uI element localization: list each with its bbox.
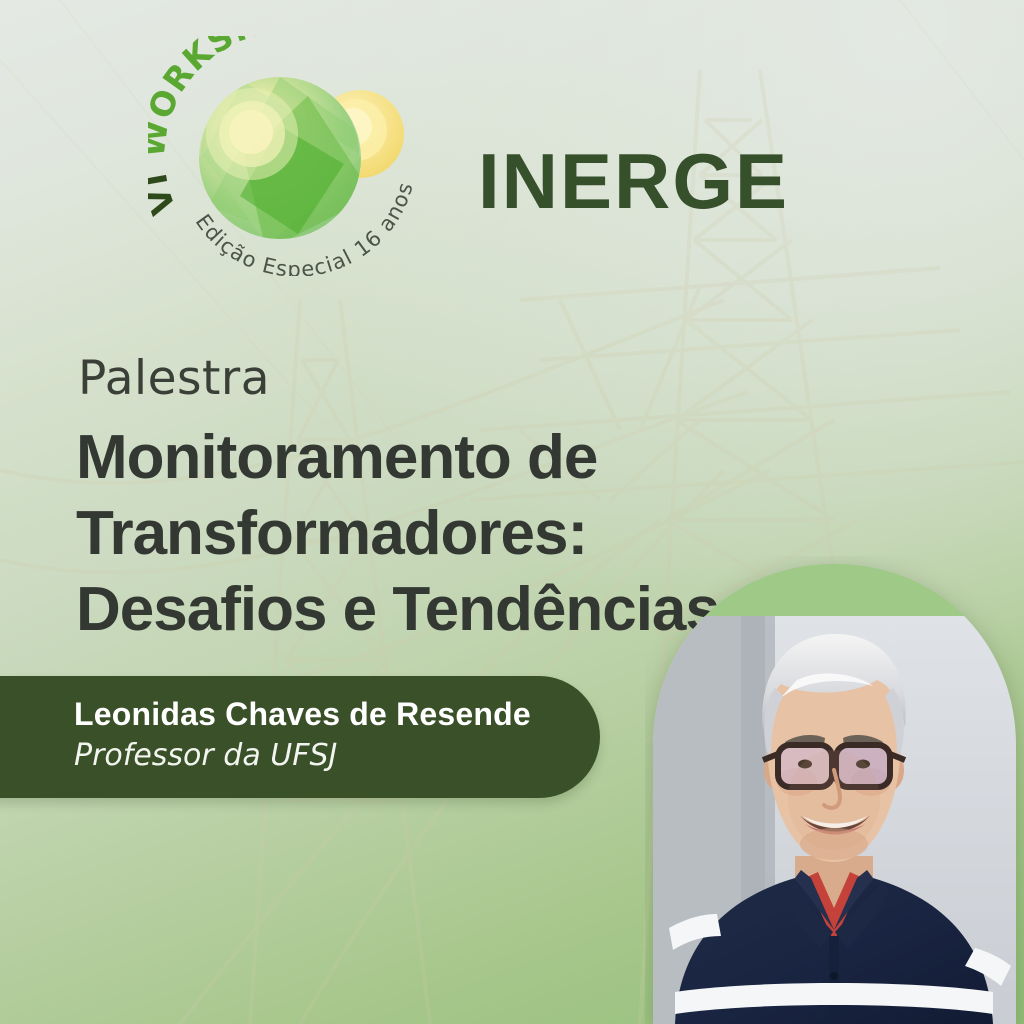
speaker-banner: Leonidas Chaves de Resende Professor da … bbox=[0, 676, 600, 798]
speaker-photo-mask bbox=[645, 556, 1024, 1024]
event-poster: VI WORKSHOP Edição Especial 16 anos INER… bbox=[0, 0, 1024, 1024]
brand-logo-block: VI WORKSHOP Edição Especial 16 anos INER… bbox=[148, 36, 1008, 276]
session-kicker: Palestra bbox=[78, 352, 270, 406]
speaker-photo bbox=[645, 556, 1024, 1024]
inerge-workshop-logo: VI WORKSHOP Edição Especial 16 anos bbox=[148, 36, 478, 276]
speaker-role: Professor da UFSJ bbox=[74, 736, 337, 776]
inerge-brand-title: INERGE bbox=[478, 142, 789, 220]
speaker-name: Leonidas Chaves de Resende bbox=[74, 694, 531, 734]
